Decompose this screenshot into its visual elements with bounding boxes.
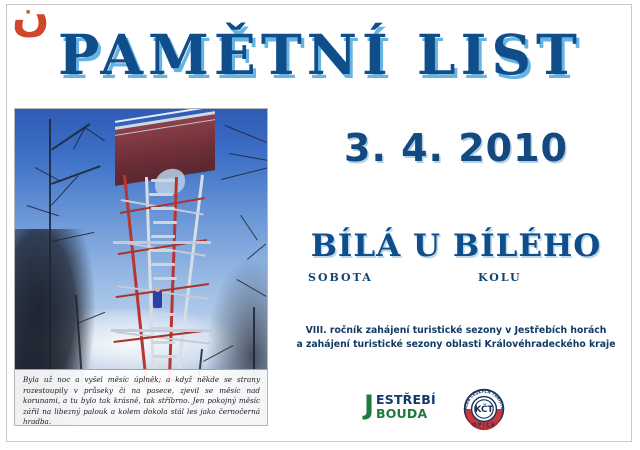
jestrebi-bouda-logo: J ESTŘEBÍ BOUDA [364, 390, 448, 424]
tower-stair-step [153, 277, 177, 280]
person-on-tower [153, 291, 162, 308]
pametni-list-certificate: ن PAMĚTNÍ LIST [0, 0, 640, 450]
event-weekday: SOBOTA [308, 271, 373, 284]
tower-platform-beam [113, 241, 211, 244]
tower-stair-step [151, 313, 175, 316]
branch [27, 205, 60, 217]
person-head [155, 287, 160, 292]
photo-caption-plate: Byla už noc a vyšel měsíc úplněk; a když… [15, 369, 267, 425]
branch [240, 215, 258, 241]
tower-photo: Byla už noc a vyšel měsíc úplněk; a když… [14, 108, 268, 426]
branch [247, 244, 266, 260]
branch [224, 125, 268, 146]
event-description: VIII. ročník zahájení turistické sezony … [278, 324, 634, 352]
tower-stair-step [149, 327, 173, 330]
tower-stair-step [151, 179, 175, 182]
lookout-tower [111, 113, 219, 413]
tower-stair-step [149, 249, 173, 252]
tower-stair-step [153, 221, 177, 224]
jestrebi-bouda-line2: BOUDA [376, 406, 427, 421]
kct-monogram: KČT [475, 403, 494, 415]
branch [229, 153, 268, 162]
kct-branch-name: OPICE [472, 422, 496, 428]
page-title: PAMĚTNÍ LIST [0, 22, 640, 87]
tower-brace [117, 285, 208, 300]
event-description-line-2: a zahájení turistické sezony oblasti Krá… [278, 338, 634, 352]
event-subrow: SOBOTA KOLU [278, 271, 634, 285]
branch [51, 175, 79, 206]
event-place: BÍLÁ U BÍLÉHO [278, 228, 634, 264]
event-date: 3. 4. 2010 [278, 126, 634, 170]
event-details: 3. 4. 2010 BÍLÁ U BÍLÉHO SOBOTA KOLU VII… [278, 108, 634, 352]
jestrebi-bouda-line1: ESTŘEBÍ [376, 392, 436, 407]
event-place-second-line: KOLU [478, 271, 522, 284]
tower-stair-step [149, 193, 173, 196]
photo-caption-text: Byla už noc a vyšel měsíc úplněk; a když… [23, 375, 260, 426]
branch [84, 127, 105, 141]
event-description-line-1: VIII. ročník zahájení turistické sezony … [278, 324, 634, 338]
tower-stair-step [153, 355, 177, 358]
tower-stair-step [151, 235, 175, 238]
jestrebi-bouda-initial: J [364, 392, 374, 419]
kct-opice-logo: KČT KLUB ČESKÝCH TURISTŮ OPICE [460, 386, 508, 432]
sponsor-logos: J ESTŘEBÍ BOUDA KČT KLUB ČESKÝCH TURISTŮ… [360, 386, 530, 434]
branch [34, 167, 61, 182]
branch [221, 167, 268, 180]
tower-stair-step [151, 341, 175, 344]
tower-stair-step [151, 207, 175, 210]
tower-stair-step [151, 263, 175, 266]
